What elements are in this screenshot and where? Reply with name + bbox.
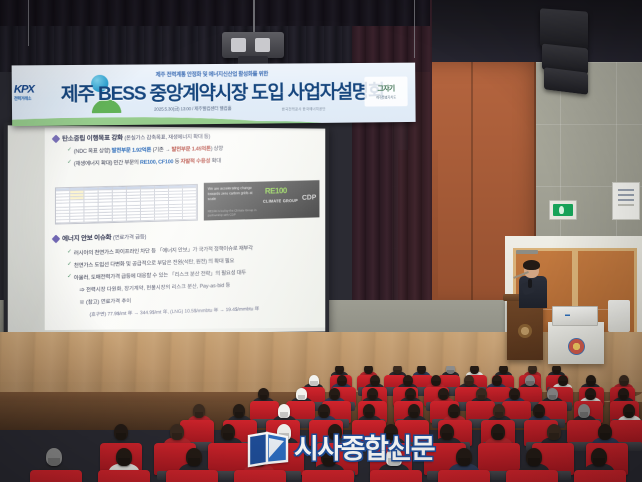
slide-b1-item0-mid: (기존 → — [151, 147, 171, 154]
slide-b1-item0-hi2: 발전부문 1.45억톤 — [171, 146, 210, 153]
banner-date-venue: 2025.5.30(금) 13:00 / 제주웰컴센터 웰컴홀 — [154, 106, 232, 113]
audience-member-head — [186, 448, 202, 466]
audience-member-head — [499, 366, 508, 374]
auditorium-seat — [574, 470, 626, 482]
check-icon: ✓ — [67, 249, 72, 255]
audience-member-head — [585, 388, 596, 400]
presenter-laptop: ▬ — [552, 306, 598, 326]
stage-curtain-right — [352, 0, 432, 300]
jeju-logo-text: 그자기 — [364, 83, 407, 93]
audience-member-head — [528, 366, 537, 374]
banner-partner-logos: 한국전력공사 한국에너지공단 — [282, 106, 326, 111]
trash-bin — [608, 300, 630, 332]
audience-member-head — [493, 404, 505, 418]
photo-scene: 탄소중립 이행목표 강화 (온실가스 감축목표, 재생에너지 확대 등) ✓ (… — [0, 0, 642, 482]
audience-member-head — [318, 404, 330, 418]
slide-b2-item1: 천연가스 도입선 다변화 및 공급적으로 부담은 전원(석탄, 원전) 의 확대… — [74, 256, 234, 269]
slide-b2-item2: 아울러, 도매전력가격 급등에 대응할 수 있는 「리스크 분산 전략」의 필요… — [74, 268, 246, 282]
projection-screen-frame: 탄소중립 이행목표 강화 (온실가스 감축목표, 재생에너지 확대 등) ✓ (… — [4, 122, 329, 342]
audience-member-head — [278, 404, 290, 418]
audience-member-head — [470, 366, 479, 374]
presenter — [519, 262, 547, 306]
audience-member-head — [552, 366, 561, 374]
news-outlet-watermark: 시사종합신문 — [247, 426, 437, 472]
bullet-diamond-icon — [52, 135, 61, 144]
slide-bullet2-heading-sub: (연료가격 급등) — [113, 234, 146, 241]
slide-b1-item1-hi2: 자발적 수용성 — [181, 158, 211, 165]
audience-member-head — [309, 375, 319, 386]
table-emblem-icon — [568, 338, 585, 355]
audience-member-head — [46, 448, 62, 466]
auditorium-seat — [98, 470, 150, 482]
audience-member-head — [492, 375, 502, 386]
audience-member-head — [329, 388, 340, 400]
slide-b1-item0-pre: (NDC 목표 상향) — [74, 148, 112, 155]
check-icon: ✓ — [67, 147, 72, 153]
slide-data-table — [55, 184, 198, 224]
audience-member-head — [623, 404, 635, 418]
audience-member-head — [114, 424, 128, 440]
audience-member-head — [533, 404, 545, 418]
audience-member-head — [403, 375, 413, 386]
audience-member-head — [221, 424, 235, 440]
auditorium-seat — [438, 470, 490, 482]
audience-member-head — [337, 375, 347, 386]
audience-member-head — [367, 388, 378, 400]
re100-lead-text: We are accelerating change towards zero … — [208, 186, 259, 202]
audience-member-head — [170, 424, 184, 440]
audience-member-head — [370, 375, 380, 386]
slide-b1-item1-hi: RE100, CF100 — [140, 159, 173, 166]
audience-member-head — [619, 375, 629, 386]
curtain-valance — [0, 0, 430, 26]
audience-member-head — [393, 366, 402, 374]
audience-member-head — [438, 388, 449, 400]
audience-member-head — [405, 388, 416, 400]
slide-b2-price: (흐구연) 77.9$/mt 年 → 344.9$/mt 年, (LNG) 10… — [90, 305, 260, 318]
watermark-text: 시사종합신문 — [294, 436, 434, 463]
microphone-icon — [528, 279, 532, 288]
wall-notice-poster — [612, 182, 640, 220]
auditorium-seat — [166, 470, 218, 482]
slide-b2-arrow: ⇒ 전력시장 다원화, 장기계약, 현물시장의 리스크 분산, Pay-as-b… — [79, 282, 230, 294]
audience-member-head — [476, 388, 487, 400]
audience-member-head — [335, 366, 344, 374]
audience-member-head — [464, 375, 474, 386]
kpx-logo: KPX 전력거래소 — [14, 83, 34, 101]
slide-bullet1-heading-sub: (온실가스 감축목표, 재생에너지 확대 등) — [124, 134, 210, 142]
jeju-logo: 그자기 제주특별자치도 — [364, 77, 407, 107]
slide-b2-item0: 러시아의 천연가스 파이프라인 차단 등 「에너지 안보」가 국가적 정책이슈로… — [74, 243, 253, 256]
check-icon: ✓ — [67, 159, 72, 165]
audience-member-head — [446, 366, 455, 374]
ceiling-projector-icon — [222, 32, 284, 58]
slide-b2-note: ※ (참고) 연료가격 추이 — [79, 297, 131, 306]
audience-member-head — [363, 404, 375, 418]
projector-mount-rod — [253, 0, 255, 34]
re100-badge: RE100 — [265, 186, 287, 196]
audience-member-head — [258, 388, 269, 400]
slide-bullet1-heading: 탄소중립 이행목표 강화 — [62, 135, 123, 143]
audience-member-head — [233, 404, 245, 418]
presenter-hair — [523, 260, 540, 270]
audience-member-head — [525, 375, 535, 386]
slide-b1-item0-hi: 발전부문 1.92억톤 — [112, 147, 152, 154]
audience-member-head — [417, 366, 426, 374]
re100-footnote: RE100 is led by the Climate Group in par… — [208, 208, 257, 217]
jeju-logo-sub: 제주특별자치도 — [365, 94, 408, 99]
slide-b1-item1-post: 확대 — [210, 158, 221, 164]
audience-member-head — [547, 424, 561, 440]
slide-b1-item0-post: ) 상향 — [211, 146, 223, 152]
audience-member-head — [578, 404, 590, 418]
audience-member-head — [547, 388, 558, 400]
audience-member-head — [456, 448, 472, 466]
audience-member-head — [431, 375, 441, 386]
audience-member-head — [296, 388, 307, 400]
emergency-exit-icon — [549, 200, 577, 220]
audience-member-head — [440, 424, 454, 440]
laptop-screen-icon: ▬ — [565, 312, 570, 318]
audience-member-head — [586, 375, 596, 386]
hanging-wire — [414, 0, 415, 58]
audience-member-head — [193, 404, 205, 418]
open-book-logo-icon — [247, 430, 289, 468]
side-table — [548, 322, 604, 364]
banner-title: 제주 BESS 중앙계약시장 도입 사업자설명회 — [61, 77, 384, 107]
audience-member-head — [364, 366, 373, 374]
kpx-logo-sub: 전력거래소 — [14, 96, 34, 102]
audience-member-head — [116, 448, 132, 466]
audience-member-head — [448, 404, 460, 418]
audience-member-head — [526, 448, 542, 466]
re100-partner: CDP — [302, 194, 316, 201]
audience-member-head — [509, 388, 520, 400]
slide-b1-item1-mid: 등 — [173, 159, 180, 165]
audience-member-head — [591, 448, 607, 466]
check-icon: ✓ — [67, 261, 72, 267]
audience-member-head — [408, 404, 420, 418]
slide-content: 탄소중립 이행목표 강화 (온실가스 감축목표, 재생에너지 확대 등) ✓ (… — [45, 128, 326, 330]
audience-member-head — [491, 424, 505, 440]
hanging-wire — [28, 0, 29, 46]
auditorium-seat — [506, 470, 558, 482]
door-closer-arm — [516, 250, 538, 254]
audience-member-head — [598, 424, 612, 440]
auditorium-seat — [30, 470, 82, 482]
bullet-diamond-icon — [52, 235, 61, 244]
slide-bullet2-heading: 에너지 안보 이슈화 — [62, 234, 111, 243]
lectern-emblem-icon — [518, 324, 532, 338]
check-icon: ✓ — [67, 273, 72, 279]
re100-org: CLIMATE GROUP — [263, 198, 298, 204]
audience-member-head — [618, 388, 629, 400]
audience-member-head — [558, 375, 568, 386]
re100-graphic: We are accelerating change towards zero … — [204, 180, 320, 220]
projection-screen: 탄소중립 이행목표 강화 (온실가스 감축목표, 재생에너지 확대 등) ✓ (… — [8, 125, 325, 334]
event-banner: KPX 전력거래소 제주 전력계통 안정화 및 에너지신산업 활성화를 위한 제… — [12, 63, 416, 127]
slide-b1-item1-pre: (재생에너지 확대) 민간 부문의 — [74, 160, 140, 168]
